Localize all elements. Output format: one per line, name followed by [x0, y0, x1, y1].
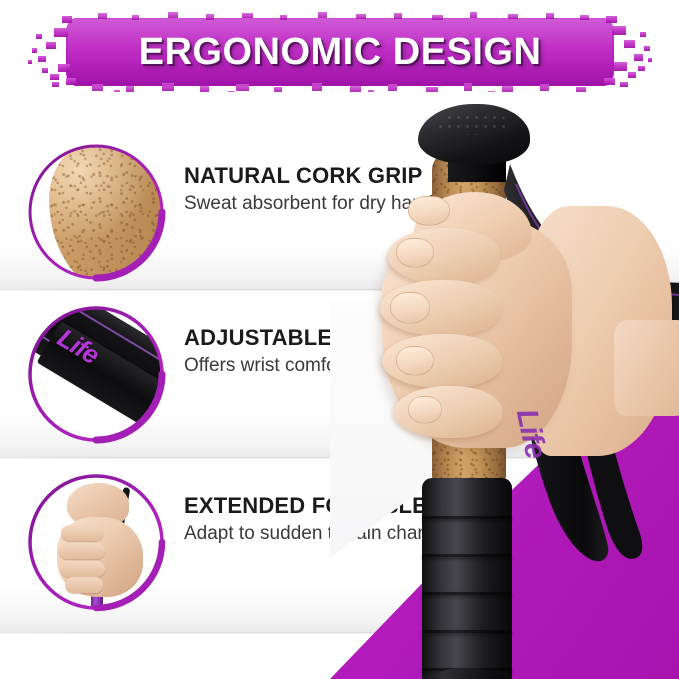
- ergonomic-design-infographic: ERGONOMIC DESIGN NATURAL CORK GRIP: [0, 0, 679, 679]
- page-title: ERGONOMIC DESIGN: [28, 12, 652, 92]
- foam-sleeve: [422, 478, 512, 679]
- pole-cap-icon: [418, 104, 530, 164]
- wrist-strap-closeup-icon: Life: [31, 309, 161, 439]
- foam-sleeve-hand-grip-icon: [31, 477, 161, 607]
- thumbnail-extended-foam-sleeve: [26, 472, 166, 612]
- header-banner: ERGONOMIC DESIGN: [28, 12, 652, 92]
- thumbnail-adjustable-strap: Life: [26, 304, 166, 444]
- thumbnail-natural-cork-grip: [26, 142, 166, 282]
- cork-grip-closeup-icon: [31, 147, 161, 277]
- product-photo-trekking-pole: Life: [356, 96, 679, 679]
